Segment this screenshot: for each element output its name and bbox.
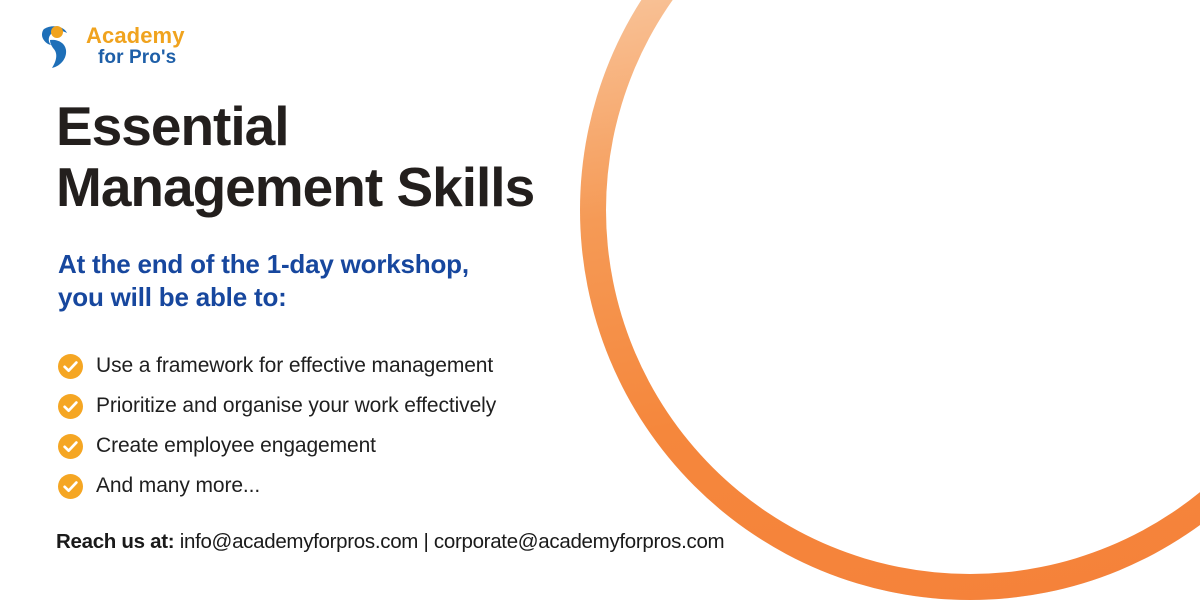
list-item-label: Use a framework for effective management (96, 354, 493, 378)
person-man-blue-suit (1180, 0, 1200, 440)
subtitle: At the end of the 1-day workshop, you wi… (58, 248, 618, 315)
check-circle-icon (58, 394, 83, 419)
photo-circle-clip (600, 0, 1200, 600)
smile (917, 24, 979, 42)
face (1084, 0, 1182, 94)
list-item: Prioritize and organise your work effect… (58, 386, 658, 426)
page-title: Essential Management Skills (56, 96, 636, 217)
eyeglasses-icon (879, 0, 1015, 4)
learning-outcomes-list: Use a framework for effective management… (58, 346, 658, 506)
content-column: Academy for Pro's Essential Management S… (0, 0, 640, 600)
lens-left (879, 0, 933, 4)
office-team-photo (600, 0, 1200, 600)
brand-logo[interactable]: Academy for Pro's (38, 22, 185, 70)
person-woman-white-blazer (1032, 0, 1200, 440)
check-circle-icon (58, 474, 83, 499)
brand-wordmark: Academy for Pro's (86, 25, 185, 67)
lens-right (961, 0, 1015, 4)
headline-line-2: Management Skills (56, 157, 636, 218)
list-item-label: Prioritize and organise your work effect… (96, 394, 496, 418)
eye-right (1142, 18, 1160, 25)
promotional-banner: Academy for Pro's Essential Management S… (0, 0, 1200, 600)
list-item-label: And many more... (96, 474, 260, 498)
list-item: And many more... (58, 466, 658, 506)
necktie-knot (933, 100, 967, 130)
list-item: Create employee engagement (58, 426, 658, 466)
contact-lead-label: Reach us at: (56, 530, 174, 553)
contact-footer: Reach us at: info@academyforpros.com | c… (56, 530, 724, 554)
list-item: Use a framework for effective management (58, 346, 658, 386)
suit-jacket-left (1178, 112, 1200, 440)
shirt-placket (764, 184, 776, 434)
jacket-button (963, 330, 973, 340)
brand-name-line1: Academy (86, 25, 185, 47)
list-item-label: Create employee engagement (96, 434, 376, 458)
brand-name-line2: for Pro's (86, 48, 185, 67)
eye-left (737, 54, 757, 62)
headline-line-1: Essential (56, 95, 289, 157)
check-circle-icon (58, 354, 83, 379)
photo-stage (600, 0, 1200, 600)
check-circle-icon (58, 434, 83, 459)
contact-emails[interactable]: info@academyforpros.com | corporate@acad… (174, 530, 724, 553)
eye-left (1100, 18, 1118, 25)
academy-for-pros-figure-icon (38, 22, 78, 70)
subtitle-line-2: you will be able to: (58, 281, 618, 314)
subtitle-line-1: At the end of the 1-day workshop, (58, 249, 469, 279)
necktie (936, 126, 964, 306)
